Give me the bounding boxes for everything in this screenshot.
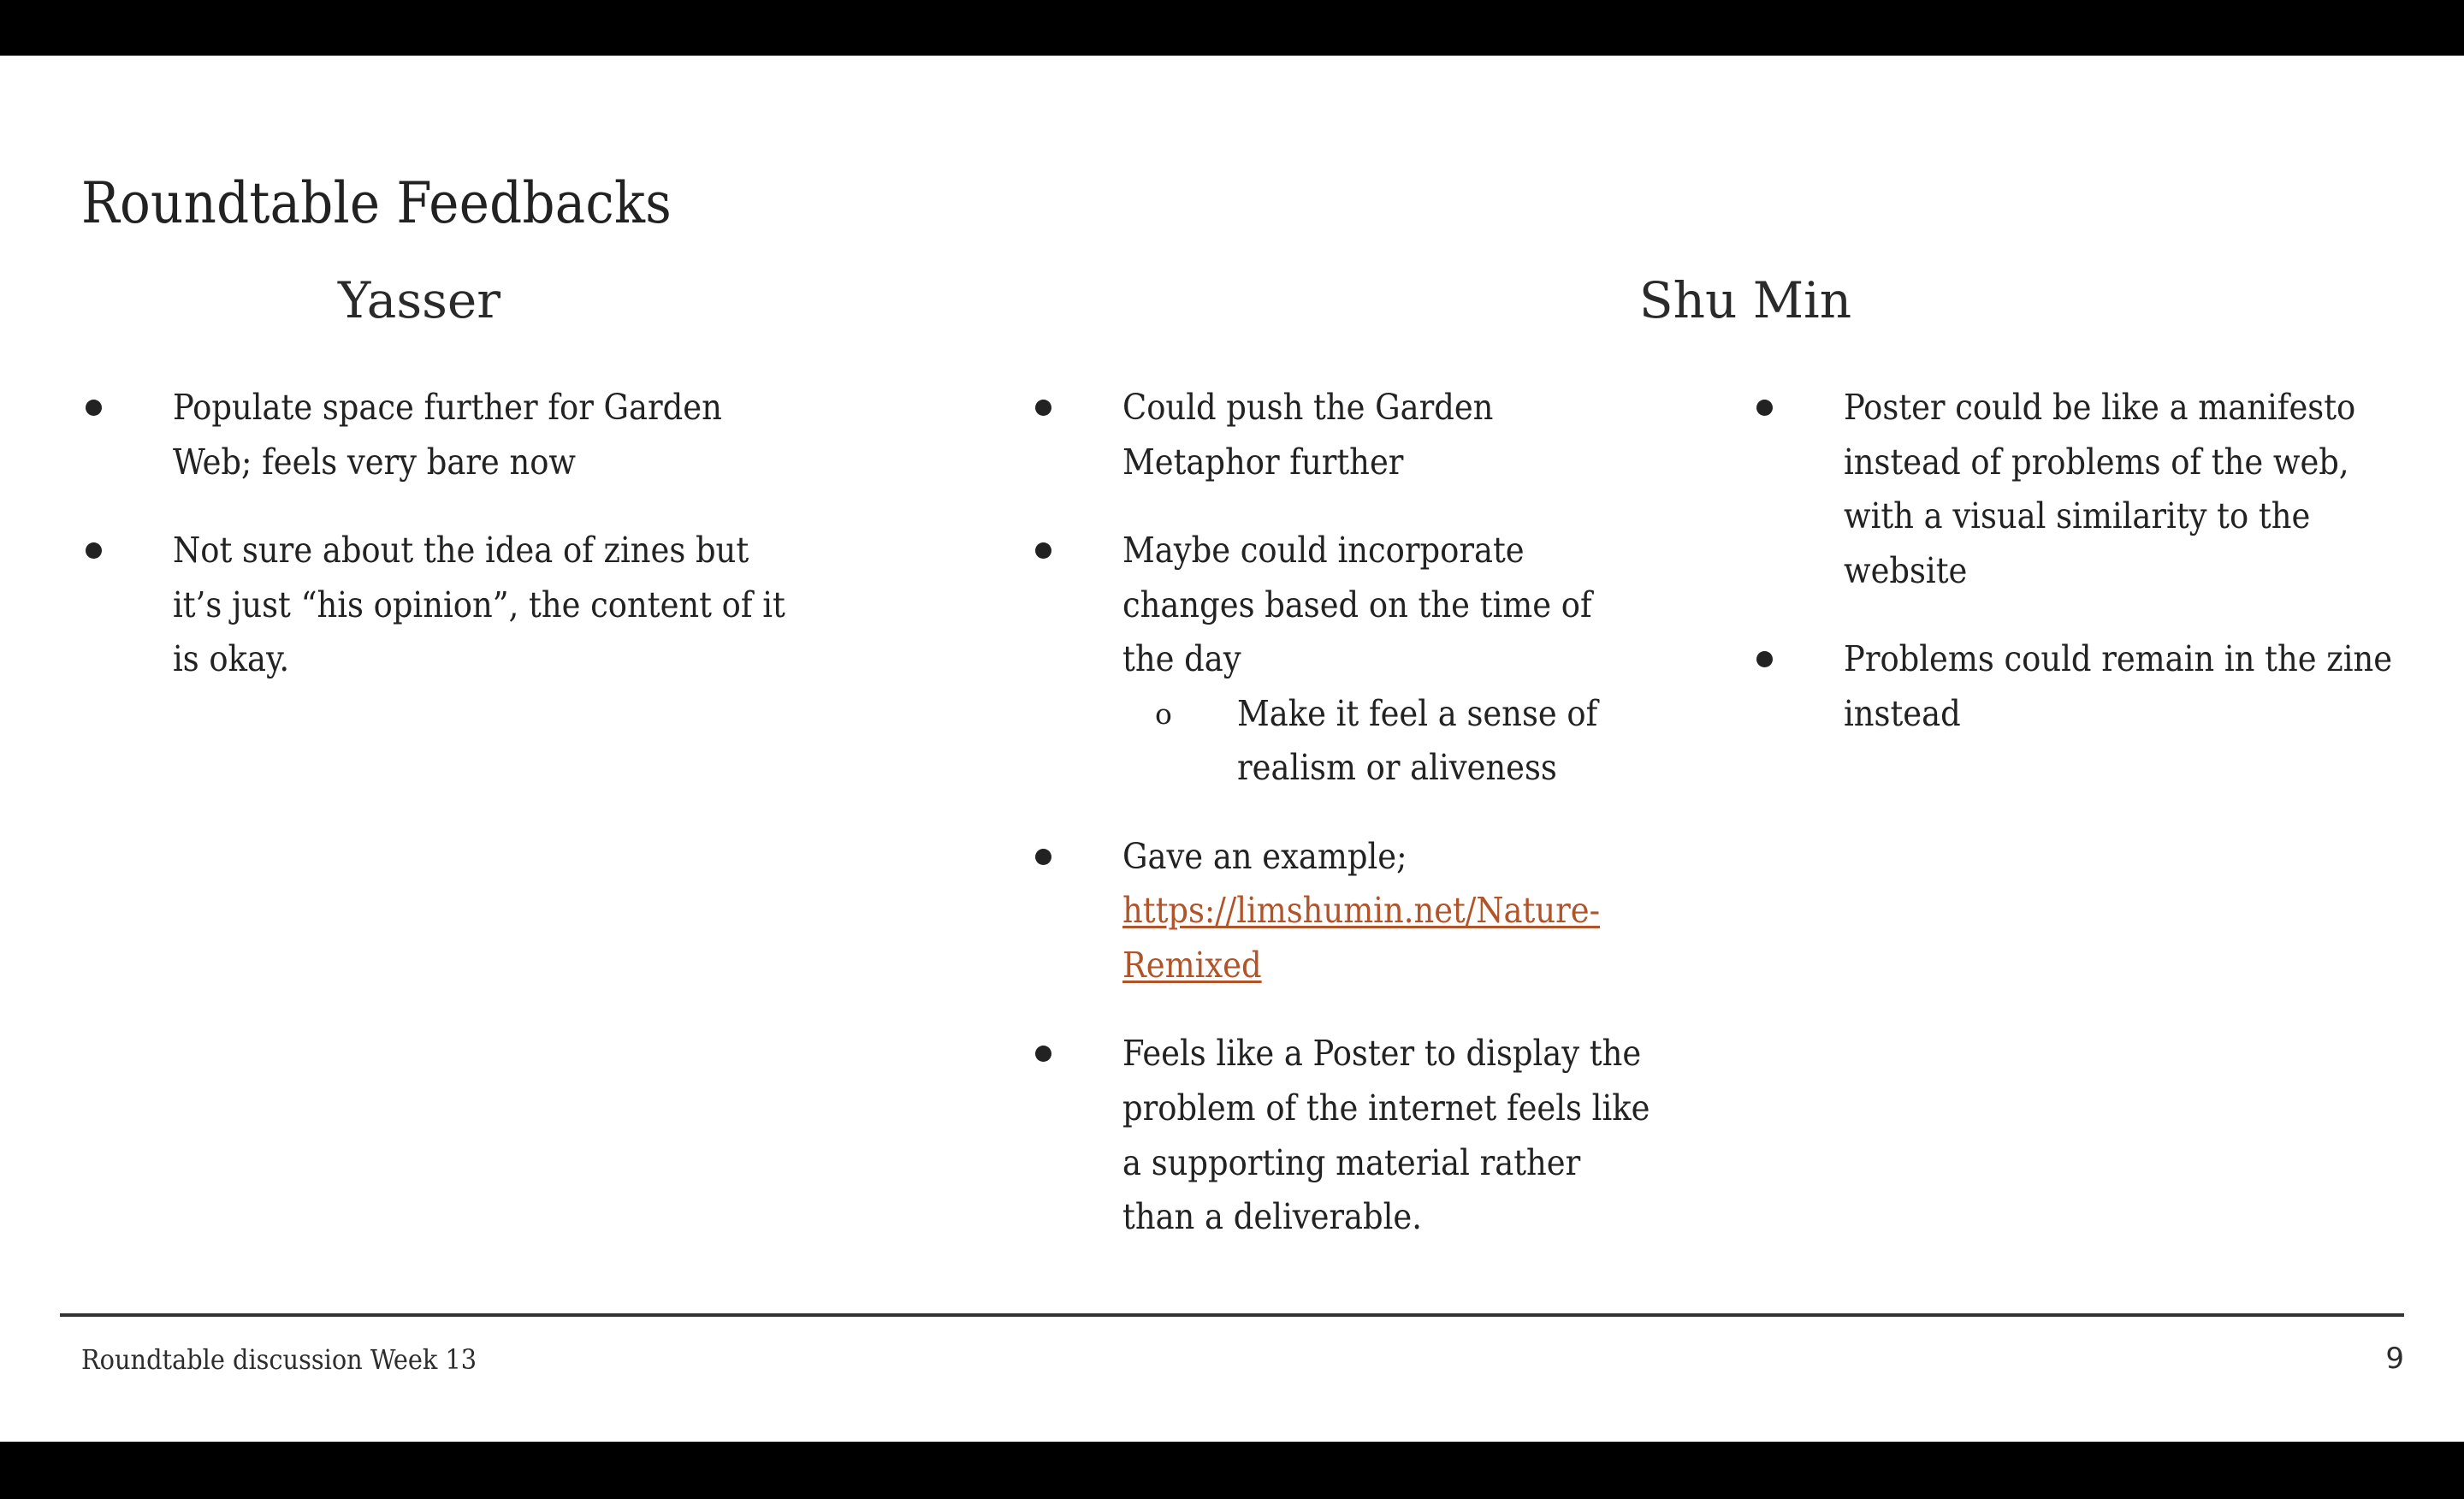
list-item: Feels like a Poster to display the probl… [1018,1027,1651,1244]
list-item-text: Populate space further for Garden Web; f… [173,387,722,483]
bullet-disc-icon [1756,400,1773,416]
bullet-column-yasser: Populate space further for Garden Web; f… [68,381,804,721]
list-item: Maybe could incorporate changes based on… [1018,524,1651,796]
list-item: Could push the Garden Metaphor further [1018,381,1651,489]
list-item-text: Not sure about the idea of zines but it’… [173,530,785,679]
list-item-text: Feels like a Poster to display the probl… [1122,1033,1650,1237]
column-heading-shumin: Shu Min [1497,274,1993,329]
list-item: Populate space further for Garden Web; f… [68,381,804,489]
footer-divider [60,1313,2404,1317]
list-item: Problems could remain in the zine instea… [1741,632,2417,741]
bullet-disc-icon [1035,542,1051,559]
page-title: Roundtable Feedbacks [81,173,672,235]
bullet-column-shumin-primary: Could push the Garden Metaphor further M… [1018,381,1651,1279]
footer-label: Roundtable discussion Week 13 [81,1343,477,1376]
list-item-text: Maybe could incorporate changes based on… [1122,530,1592,679]
list-item-text: Could push the Garden Metaphor further [1122,387,1493,483]
list-item-text: Poster could be like a manifesto instead… [1844,387,2355,591]
bullet-disc-icon [1035,849,1051,865]
slide-frame: Roundtable Feedbacks Yasser Shu Min Popu… [0,0,2464,1499]
bullet-circle-icon: o [1155,687,1172,742]
bullet-disc-icon [86,542,102,559]
page-number: 9 [2385,1342,2404,1377]
bullet-disc-icon [86,400,102,416]
list-item-text: Problems could remain in the zine instea… [1844,638,2392,734]
sub-list-item: o Make it feel a sense of realism or ali… [1122,687,1651,796]
list-item: Not sure about the idea of zines but it’… [68,524,804,687]
bullet-column-shumin-secondary: Poster could be like a manifesto instead… [1741,381,2417,775]
column-heading-yasser: Yasser [171,274,667,329]
bullet-disc-icon [1035,1046,1051,1062]
sub-list: o Make it feel a sense of realism or ali… [1122,687,1651,796]
list-item-text: Gave an example; [1122,836,1407,877]
bullet-disc-icon [1035,400,1051,416]
list-item: Poster could be like a manifesto instead… [1741,381,2417,598]
external-link[interactable]: https://limshumin.net/Nature-Remixed [1122,890,1600,986]
list-item: Gave an example; https://limshumin.net/N… [1018,830,1651,993]
sub-list-item-text: Make it feel a sense of realism or alive… [1237,693,1597,789]
letterbox-top-bar [0,0,2464,56]
letterbox-bottom-bar [0,1442,2464,1499]
bullet-disc-icon [1756,651,1773,667]
slide-canvas: Roundtable Feedbacks Yasser Shu Min Popu… [0,56,2464,1442]
